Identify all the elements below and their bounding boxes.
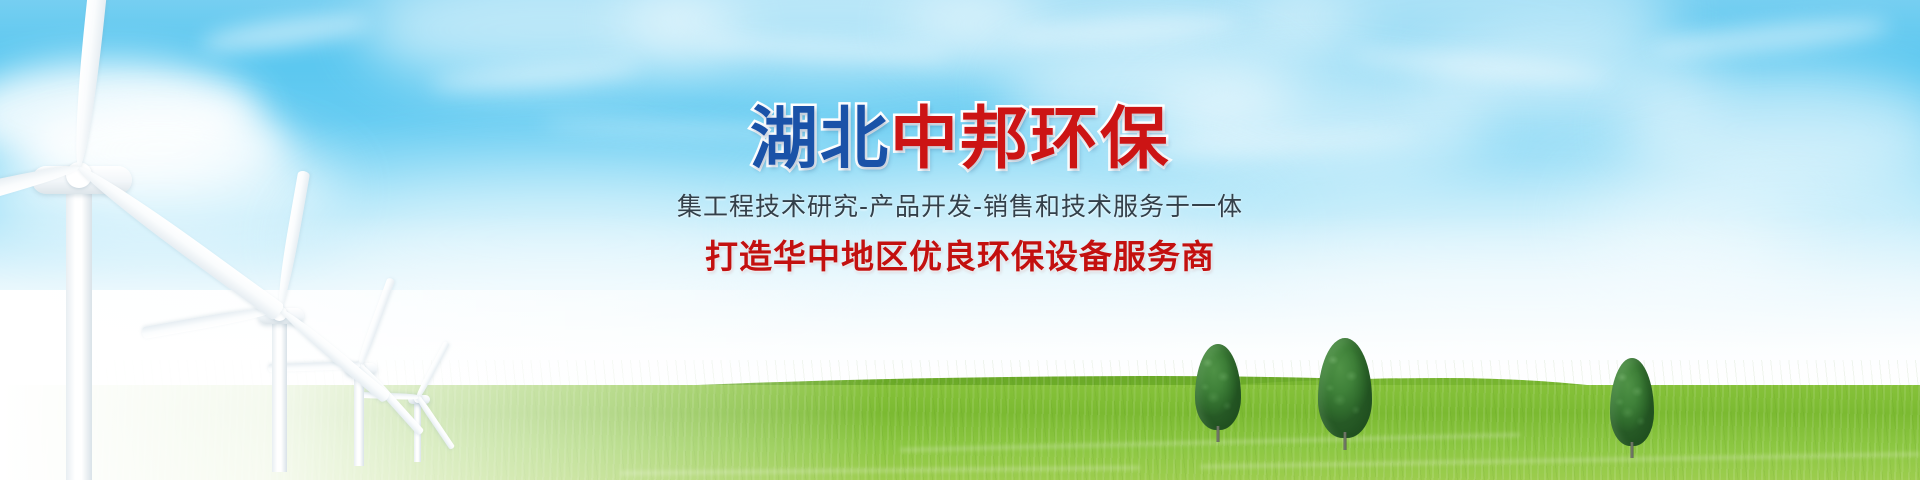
tree-trunk	[1217, 426, 1220, 442]
tree-trunk	[1631, 442, 1634, 458]
banner-subtitle: 集工程技术研究-产品开发-销售和技术服务于一体	[677, 194, 1243, 219]
banner-title-blue-segment: 湖北	[750, 100, 890, 179]
banner-title-red-segment: 中邦环保	[890, 100, 1170, 179]
cloud-streak-3	[700, 33, 951, 66]
tree-right	[1318, 332, 1372, 450]
hero-banner: 湖北中邦环保 集工程技术研究-产品开发-销售和技术服务于一体 打造华中地区优良环…	[0, 0, 1920, 480]
tree-left	[1195, 340, 1241, 442]
tree-trunk	[1344, 432, 1347, 450]
cloud-wisp-top-2	[620, 0, 1040, 90]
cloud-streak-5	[1350, 44, 1611, 89]
cloud-streak-4	[1009, 10, 1240, 50]
cloud-streak-6	[1649, 13, 1890, 64]
tree-far	[1610, 354, 1654, 458]
cloud-wisp-top-3	[900, 0, 1360, 90]
banner-text-block: 湖北中邦环保 集工程技术研究-产品开发-销售和技术服务于一体 打造华中地区优良环…	[0, 106, 1920, 273]
banner-tagline: 打造华中地区优良环保设备服务商	[705, 240, 1215, 273]
tree-crown	[1610, 358, 1654, 446]
tree-crown	[1318, 338, 1372, 438]
banner-title: 湖北中邦环保	[750, 106, 1170, 174]
tree-crown	[1195, 344, 1241, 430]
cloud-wisp-top-4	[1250, 0, 1670, 90]
